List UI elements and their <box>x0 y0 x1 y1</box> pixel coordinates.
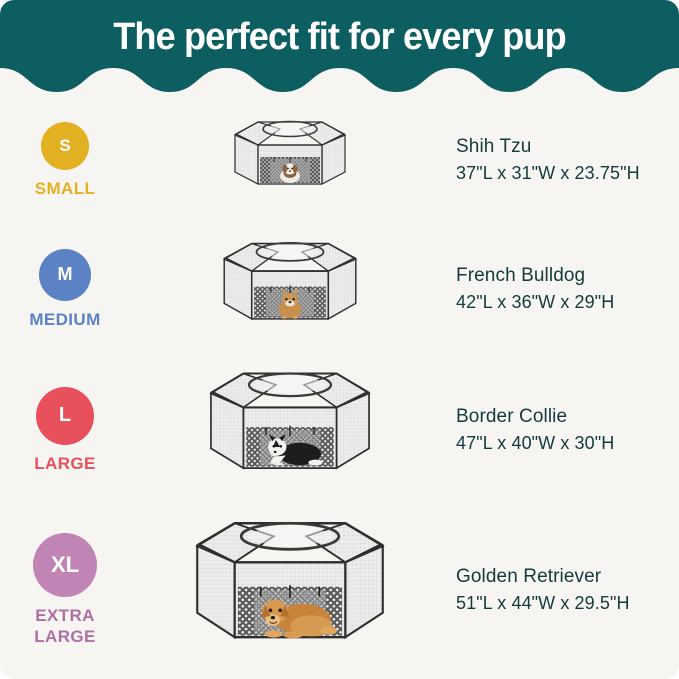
playpen-illustration-medium <box>214 228 366 350</box>
product-image-large <box>130 358 450 502</box>
breed-dimensions-small: 37"L x 31"W x 23.75"H <box>456 161 679 186</box>
breed-name-small: Shih Tzu <box>456 134 679 159</box>
product-image-extra-large <box>130 507 450 673</box>
dog-shih-tzu <box>280 164 300 184</box>
playpen-illustration-large <box>199 358 381 502</box>
badge-group-medium: M MEDIUM <box>0 249 130 330</box>
breed-info-small: Shih Tzu 37"L x 31"W x 23.75"H <box>450 134 679 186</box>
size-badge-medium: M <box>39 249 91 301</box>
badge-group-small: S SMALL <box>0 122 130 199</box>
size-label-medium: MEDIUM <box>29 309 100 330</box>
breed-name-extra-large: Golden Retriever <box>456 564 679 589</box>
breed-info-medium: French Bulldog 42"L x 36"W x 29"H <box>450 263 679 315</box>
header-banner: The perfect fit for every pup <box>0 0 679 95</box>
size-badge-extra-large: XL <box>33 533 97 597</box>
size-row-large: L LARGE <box>0 358 679 502</box>
size-row-small: S SMALL <box>0 104 679 216</box>
product-size-chart-infographic: The perfect fit for every pup S SMALL <box>0 0 679 679</box>
breed-name-large: Border Collie <box>456 404 679 429</box>
playpen-illustration-extra-large <box>184 507 396 673</box>
page-title: The perfect fit for every pup <box>17 14 662 60</box>
breed-dimensions-extra-large: 51"L x 44"W x 29.5"H <box>456 591 679 616</box>
playpen-illustration-small <box>228 109 352 211</box>
product-image-small <box>130 109 450 211</box>
size-badge-large: L <box>36 387 94 445</box>
size-label-extra-large: EXTRA LARGE <box>10 605 120 647</box>
breed-info-extra-large: Golden Retriever 51"L x 44"W x 29.5"H <box>450 564 679 616</box>
breed-dimensions-medium: 42"L x 36"W x 29"H <box>456 290 679 315</box>
size-label-large: LARGE <box>34 453 96 474</box>
size-row-extra-large: XL EXTRA LARGE <box>0 508 679 672</box>
breed-info-large: Border Collie 47"L x 40"W x 30"H <box>450 404 679 456</box>
badge-group-extra-large: XL EXTRA LARGE <box>0 533 130 647</box>
breed-name-medium: French Bulldog <box>456 263 679 288</box>
breed-dimensions-large: 47"L x 40"W x 30"H <box>456 431 679 456</box>
size-row-medium: M MEDIUM <box>0 226 679 352</box>
size-label-small: SMALL <box>35 178 96 199</box>
size-badge-small: S <box>41 122 89 170</box>
product-image-medium <box>130 228 450 350</box>
badge-group-large: L LARGE <box>0 387 130 474</box>
